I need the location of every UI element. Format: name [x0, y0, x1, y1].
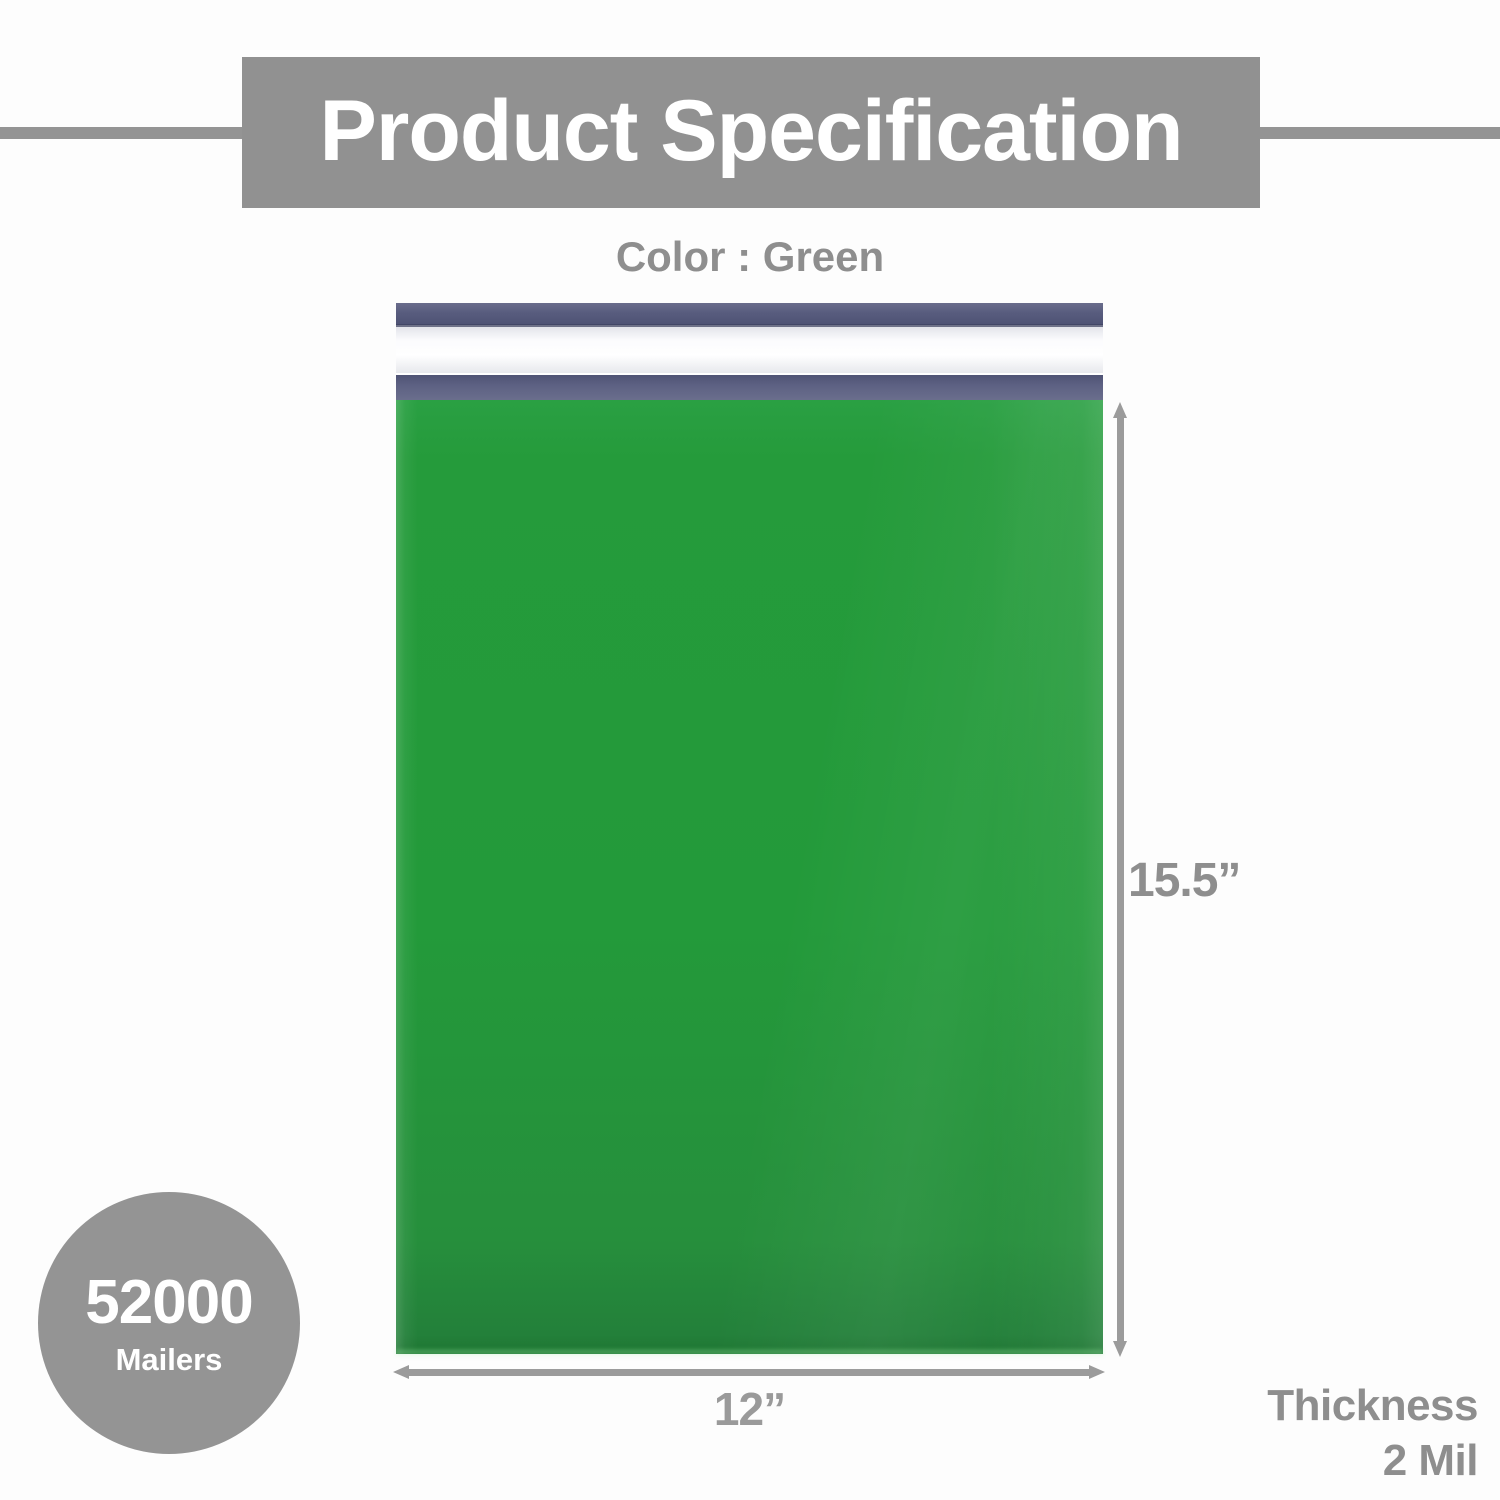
- bag-flap-top-band: [396, 303, 1103, 325]
- arrow-shaft-vertical: [1117, 411, 1124, 1348]
- thickness-label: Thickness: [1267, 1378, 1478, 1433]
- height-dimension-arrow: [1113, 402, 1127, 1357]
- page-title: Product Specification: [319, 88, 1182, 178]
- product-specification-sheet: Product Specification Color : Green 15.5…: [0, 0, 1500, 1500]
- quantity-count: 52000: [85, 1272, 252, 1334]
- bag-body-green: [396, 400, 1103, 1354]
- quantity-badge: 52000 Mailers: [38, 1192, 300, 1454]
- bag-bottom-glow: [396, 1350, 1103, 1358]
- arrow-shaft-horizontal: [402, 1369, 1096, 1376]
- mailer-bag-illustration: [396, 303, 1103, 1354]
- arrow-head-right-icon: [1089, 1365, 1105, 1379]
- bag-flap-bottom-band: [396, 375, 1103, 401]
- header-banner: Product Specification: [242, 57, 1260, 208]
- width-dimension-label: 12”: [396, 1382, 1103, 1436]
- quantity-unit: Mailers: [116, 1344, 223, 1375]
- color-caption: Color : Green: [0, 233, 1500, 281]
- thickness-block: Thickness 2 Mil: [1267, 1378, 1478, 1488]
- bag-adhesive-liner-strip: [396, 327, 1103, 374]
- thickness-value: 2 Mil: [1267, 1433, 1478, 1488]
- width-dimension-arrow: [393, 1365, 1105, 1379]
- height-dimension-label: 15.5”: [1128, 853, 1240, 908]
- arrow-head-down-icon: [1113, 1341, 1127, 1357]
